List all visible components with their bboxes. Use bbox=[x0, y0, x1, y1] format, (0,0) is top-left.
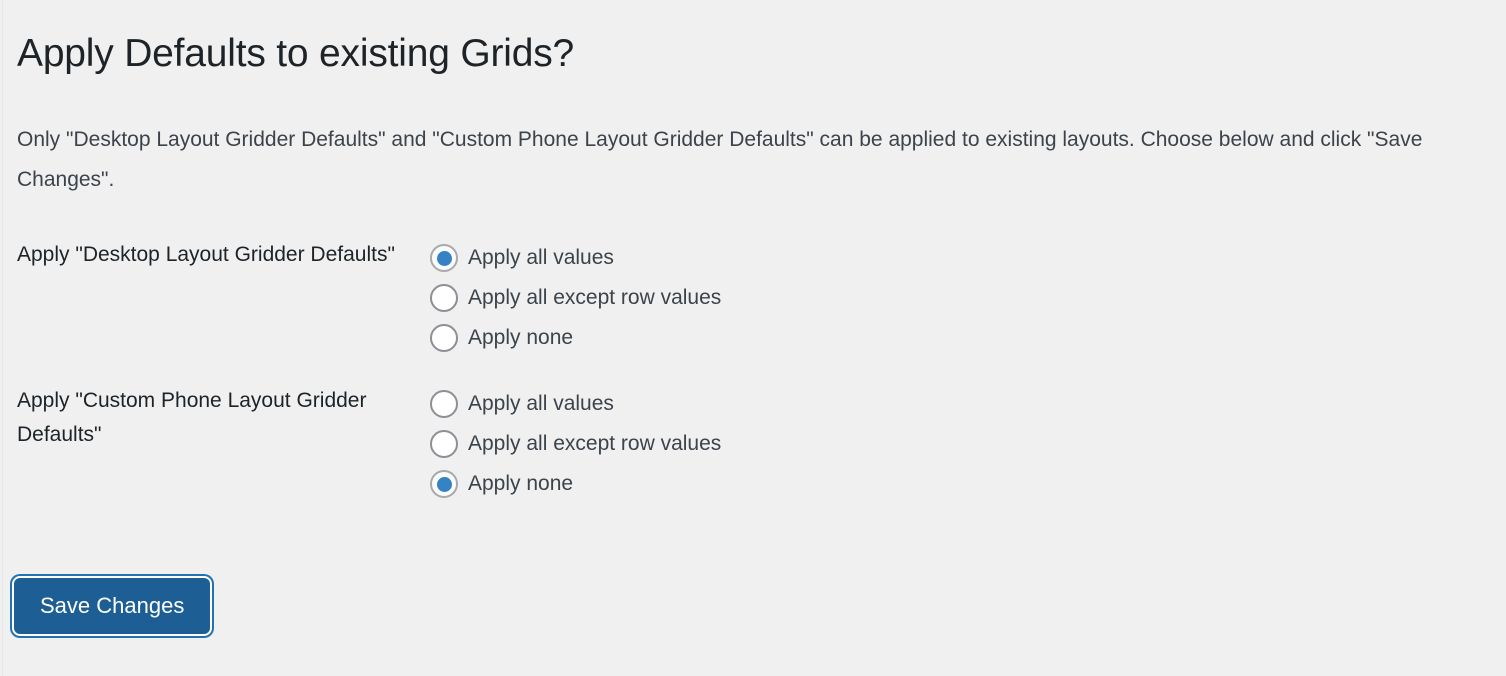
page-description: Only "Desktop Layout Gridder Defaults" a… bbox=[17, 120, 1487, 200]
setting-label-custom-phone: Apply "Custom Phone Layout Gridder Defau… bbox=[17, 358, 430, 504]
table-row: Apply "Custom Phone Layout Gridder Defau… bbox=[17, 358, 1487, 504]
radio-option-desktop-all[interactable]: Apply all values bbox=[430, 238, 614, 278]
setting-label-desktop: Apply "Desktop Layout Gridder Defaults" bbox=[17, 238, 430, 358]
table-row: Apply "Desktop Layout Gridder Defaults" … bbox=[17, 238, 1487, 358]
radio-option-label: Apply none bbox=[468, 324, 573, 352]
apply-defaults-form-table: Apply "Desktop Layout Gridder Defaults" … bbox=[17, 238, 1487, 504]
radio-icon[interactable] bbox=[430, 470, 458, 498]
radio-option-desktop-all-except-row[interactable]: Apply all except row values bbox=[430, 278, 721, 318]
radio-option-custom-phone-all-except-row[interactable]: Apply all except row values bbox=[430, 424, 721, 464]
radio-option-custom-phone-all[interactable]: Apply all values bbox=[430, 384, 614, 424]
radio-option-label: Apply all except row values bbox=[468, 430, 721, 458]
submit-area: Save Changes bbox=[12, 576, 212, 636]
radio-option-label: Apply all values bbox=[468, 390, 614, 418]
form-table-body: Apply "Desktop Layout Gridder Defaults" … bbox=[17, 238, 1487, 504]
radio-option-label: Apply none bbox=[468, 470, 573, 498]
setting-control-custom-phone: Apply all values Apply all except row va… bbox=[430, 358, 1487, 504]
radio-option-custom-phone-none[interactable]: Apply none bbox=[430, 464, 573, 504]
radio-icon[interactable] bbox=[430, 430, 458, 458]
setting-control-desktop: Apply all values Apply all except row va… bbox=[430, 238, 1487, 358]
radio-icon[interactable] bbox=[430, 390, 458, 418]
radio-option-label: Apply all except row values bbox=[468, 284, 721, 312]
radio-icon[interactable] bbox=[430, 284, 458, 312]
radio-icon[interactable] bbox=[430, 244, 458, 272]
radio-option-desktop-none[interactable]: Apply none bbox=[430, 318, 573, 358]
radio-option-label: Apply all values bbox=[468, 244, 614, 272]
page-title: Apply Defaults to existing Grids? bbox=[17, 30, 574, 78]
radio-group-desktop: Apply all values Apply all except row va… bbox=[430, 238, 1487, 358]
save-changes-button[interactable]: Save Changes bbox=[12, 576, 212, 636]
radio-group-custom-phone: Apply all values Apply all except row va… bbox=[430, 384, 1487, 504]
settings-page: Apply Defaults to existing Grids? Only "… bbox=[0, 0, 1506, 676]
radio-icon[interactable] bbox=[430, 324, 458, 352]
